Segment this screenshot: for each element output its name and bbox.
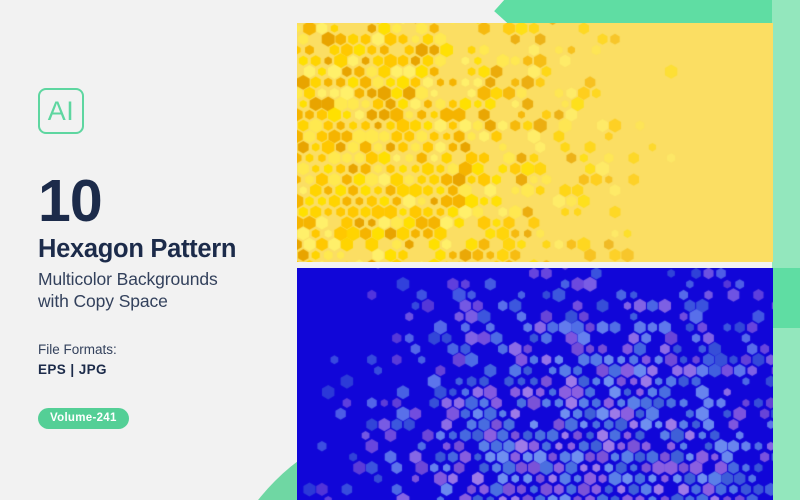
page-title: Hexagon Pattern (38, 236, 288, 264)
info-column: AI 10 Hexagon Pattern Multicolor Backgro… (38, 88, 288, 429)
yellow-hexagon-canvas (297, 23, 773, 262)
file-formats-label: File Formats: (38, 340, 288, 360)
blue-hexagon-canvas (297, 268, 773, 500)
green-accent-right-edge (772, 268, 800, 328)
volume-badge: Volume-241 (38, 408, 129, 429)
poster-canvas: AI 10 Hexagon Pattern Multicolor Backgro… (0, 0, 800, 500)
green-band-right-edge (772, 0, 800, 500)
file-formats-value: EPS | JPG (38, 360, 288, 380)
blue-hexagon-preview (297, 268, 773, 500)
ai-badge-label: AI (48, 98, 75, 125)
adobe-illustrator-badge: AI (38, 88, 84, 134)
file-formats-block: File Formats: EPS | JPG (38, 340, 288, 381)
page-subtitle: Multicolor Backgrounds with Copy Space (38, 268, 288, 312)
item-count: 10 (38, 174, 288, 228)
subtitle-line-2: with Copy Space (38, 290, 288, 312)
yellow-hexagon-preview (297, 23, 773, 262)
subtitle-line-1: Multicolor Backgrounds (38, 268, 288, 290)
